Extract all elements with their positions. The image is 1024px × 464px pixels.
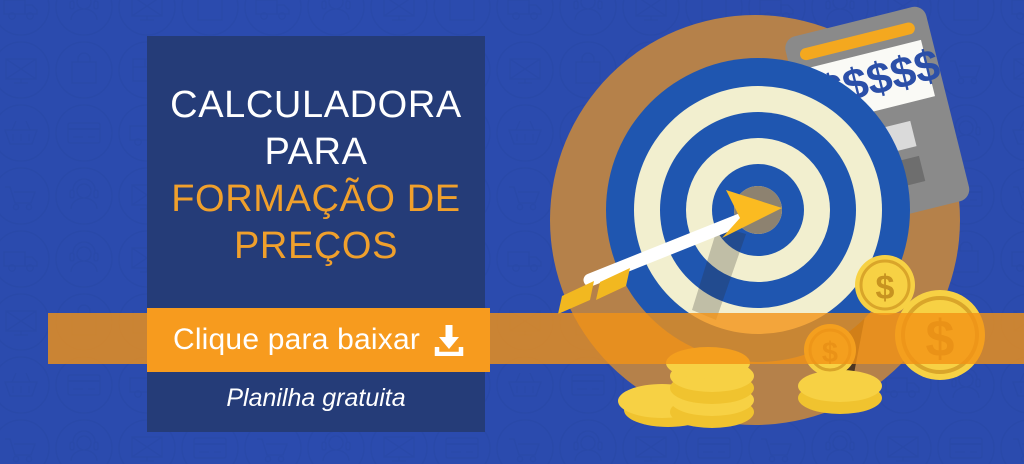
- promo-banner: $$$$$$: [0, 0, 1024, 464]
- coin-symbol: $: [876, 269, 895, 307]
- text-panel: CALCULADORA PARA FORMAÇÃO DE PREÇOS Cliq…: [147, 36, 485, 432]
- download-cta-button[interactable]: Clique para baixar: [147, 308, 490, 372]
- headline-line-1: CALCULADORA: [147, 82, 485, 129]
- coin-stack-right: [798, 370, 882, 414]
- headline-line-4: PREÇOS: [147, 223, 485, 270]
- illustration-target-calculator-coins: $$$$$$: [540, 0, 1024, 464]
- headline-line-3: FORMAÇÃO DE: [147, 176, 485, 223]
- subtitle-text: Planilha gratuita: [147, 384, 485, 413]
- headline-line-2: PARA: [147, 129, 485, 176]
- page-title: CALCULADORA PARA FORMAÇÃO DE PREÇOS: [147, 82, 485, 270]
- cta-button-label: Clique para baixar: [173, 323, 420, 357]
- download-icon: [434, 324, 464, 356]
